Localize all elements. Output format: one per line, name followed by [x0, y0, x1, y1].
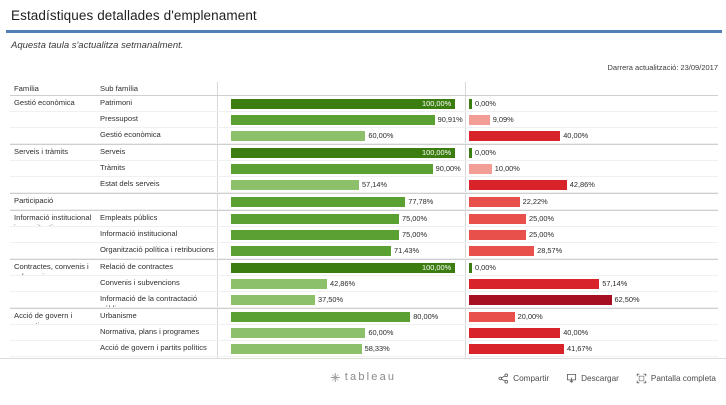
bar-cell-emplenats[interactable]: 90,91% [217, 112, 465, 128]
bar-emplenats[interactable] [231, 328, 365, 338]
column-header-familia[interactable]: Família [10, 82, 95, 95]
bar-emplenats[interactable] [231, 230, 399, 240]
bar-cell-no-emplenats[interactable]: 40,00% [465, 128, 718, 144]
bar-label-emplenats: 42,86% [330, 279, 355, 289]
bar-cell-emplenats[interactable]: 37,50% [217, 292, 465, 308]
table-group: Participació77,78%22,22% [10, 193, 718, 210]
bar-cell-no-emplenats[interactable]: 0,00% [465, 96, 718, 112]
bar-label-no-emplenats: 28,57% [537, 246, 562, 256]
table-body: Gestió econòmicaPatrimoni100,00%0,00%Pre… [10, 96, 718, 373]
table-row[interactable]: Estat dels serveis57,14%42,86% [10, 177, 718, 193]
cell-familia [10, 112, 95, 128]
table-group: Contractes, convenis i subvencionsRelaci… [10, 259, 718, 308]
table-row[interactable]: Participació77,78%22,22% [10, 194, 718, 210]
cell-familia: Gestió econòmica [10, 96, 95, 112]
bar-label-no-emplenats: 40,00% [563, 131, 588, 141]
cell-familia [10, 243, 95, 259]
cell-subfamilia: Informació institucional [95, 227, 217, 243]
bar-no-emplenats[interactable] [469, 180, 567, 190]
cell-subfamilia: Acció de govern i partits polítics [95, 341, 217, 357]
tableau-viz: Estadístiques detallades d'emplenament A… [0, 0, 726, 405]
cell-familia: Serveis i tràmits [10, 145, 95, 161]
bar-label-no-emplenats: 25,00% [529, 230, 554, 240]
bar-no-emplenats[interactable] [469, 164, 492, 174]
cell-subfamilia: Convenis i subvencions [95, 276, 217, 292]
bar-label-emplenats: 58,33% [365, 344, 390, 354]
bar-cell-no-emplenats[interactable]: 25,00% [465, 227, 718, 243]
table-header-row: Família Sub família [10, 82, 718, 96]
page-title: Estadístiques detallades d'emplenament [11, 8, 257, 23]
bar-label-no-emplenats: 20,00% [518, 312, 543, 322]
bar-emplenats[interactable] [231, 115, 435, 125]
bar-emplenats[interactable] [231, 131, 365, 141]
cell-familia [10, 177, 95, 193]
bar-cell-emplenats[interactable]: 60,00% [217, 325, 465, 341]
table-row[interactable]: Informació de la contractació pública37,… [10, 292, 718, 308]
cell-subfamilia: Gestió econòmica [95, 128, 217, 144]
bar-cell-no-emplenats[interactable]: 0,00% [465, 260, 718, 276]
bar-label-no-emplenats: 9,09% [493, 115, 514, 125]
cell-subfamilia: Pressupost [95, 112, 217, 128]
bar-label-emplenats: 37,50% [318, 295, 343, 305]
cell-familia [10, 227, 95, 243]
viz-header: Estadístiques detallades d'emplenament [0, 0, 726, 34]
cell-subfamilia: Tràmits [95, 161, 217, 177]
cell-familia [10, 161, 95, 177]
bar-label-emplenats: 100,00% [422, 148, 451, 158]
tableau-mark-icon [330, 372, 341, 383]
cell-familia [10, 325, 95, 341]
download-label: Descargar [581, 374, 619, 383]
cell-familia: Acció de govern i normativa [10, 309, 95, 325]
bar-cell-emplenats[interactable]: 80,00% [217, 309, 465, 325]
bar-label-emplenats: 75,00% [402, 230, 427, 240]
bar-cell-emplenats[interactable]: 100,00% [217, 145, 465, 161]
bar-no-emplenats[interactable] [469, 214, 526, 224]
table-row[interactable]: Tràmits90,00%10,00% [10, 161, 718, 177]
fullscreen-icon [636, 373, 647, 384]
table-row[interactable]: Organització política i retribucions71,4… [10, 243, 718, 259]
column-header-subfamilia[interactable]: Sub família [95, 82, 217, 95]
bar-no-emplenats[interactable] [469, 328, 560, 338]
bar-label-emplenats: 100,00% [422, 99, 451, 109]
bar-emplenats[interactable] [231, 214, 399, 224]
table-row[interactable]: Gestió econòmicaPatrimoni100,00%0,00% [10, 96, 718, 112]
bar-cell-no-emplenats[interactable]: 42,86% [465, 177, 718, 193]
cell-subfamilia: Urbanisme [95, 309, 217, 325]
cell-subfamilia: Serveis [95, 145, 217, 161]
bar-no-emplenats[interactable] [469, 295, 612, 305]
bar-cell-emplenats[interactable]: 100,00% [217, 96, 465, 112]
bar-label-no-emplenats: 41,67% [567, 344, 592, 354]
table-row[interactable]: Pressupost90,91%9,09% [10, 112, 718, 128]
cell-familia: Informació institucional i organitzativa [10, 211, 95, 227]
table-row[interactable]: Acció de govern i partits polítics58,33%… [10, 341, 718, 357]
bar-emplenats[interactable] [231, 295, 315, 305]
bar-emplenats[interactable] [231, 312, 410, 322]
bar-cell-no-emplenats[interactable]: 0,00% [465, 145, 718, 161]
table-group: Gestió econòmicaPatrimoni100,00%0,00%Pre… [10, 96, 718, 144]
bar-emplenats[interactable] [231, 180, 359, 190]
bar-cell-no-emplenats[interactable]: 20,00% [465, 309, 718, 325]
cell-familia [10, 292, 95, 308]
bar-label-no-emplenats: 62,50% [615, 295, 640, 305]
bar-cell-no-emplenats[interactable]: 9,09% [465, 112, 718, 128]
bar-label-emplenats: 90,00% [436, 164, 461, 174]
tableau-logo-text: tableau [345, 371, 397, 383]
bar-label-emplenats: 77,78% [408, 197, 433, 207]
header-accent-rule [6, 30, 722, 33]
bar-no-emplenats[interactable] [469, 99, 472, 109]
bar-label-no-emplenats: 0,00% [475, 263, 496, 273]
bar-no-emplenats[interactable] [469, 230, 526, 240]
bar-cell-emplenats[interactable]: 100,00% [217, 260, 465, 276]
bar-label-emplenats: 80,00% [413, 312, 438, 322]
table-row[interactable]: Serveis i tràmitsServeis100,00%0,00% [10, 145, 718, 161]
bar-cell-emplenats[interactable]: 57,14% [217, 177, 465, 193]
download-button[interactable]: Descargar [566, 373, 619, 384]
stats-table: Família Sub família Gestió econòmicaPatr… [10, 82, 718, 405]
download-icon [566, 373, 577, 384]
viz-footer: tableau Compartir [0, 359, 726, 405]
bar-label-no-emplenats: 0,00% [475, 148, 496, 158]
table-row[interactable]: Convenis i subvencions42,86%57,14% [10, 276, 718, 292]
bar-label-no-emplenats: 22,22% [523, 197, 548, 207]
table-row[interactable]: Acció de govern i normativaUrbanisme80,0… [10, 309, 718, 325]
bar-cell-no-emplenats[interactable]: 22,22% [465, 194, 718, 210]
cell-subfamilia: Estat dels serveis [95, 177, 217, 193]
bar-label-no-emplenats: 57,14% [602, 279, 627, 289]
bar-cell-no-emplenats[interactable]: 62,50% [465, 292, 718, 308]
bar-emplenats[interactable] [231, 197, 405, 207]
bar-label-no-emplenats: 0,00% [475, 99, 496, 109]
bar-cell-emplenats[interactable]: 71,43% [217, 243, 465, 259]
bar-label-emplenats: 60,00% [368, 131, 393, 141]
bar-emplenats[interactable] [231, 246, 391, 256]
cell-subfamilia [95, 194, 217, 210]
bar-emplenats[interactable] [231, 279, 327, 289]
cell-familia [10, 341, 95, 357]
cell-subfamilia: Relació de contractes [95, 260, 217, 276]
bar-emplenats[interactable] [231, 344, 362, 354]
cell-familia: Participació [10, 194, 95, 210]
bar-cell-emplenats[interactable]: 42,86% [217, 276, 465, 292]
bar-cell-emplenats[interactable]: 58,33% [217, 341, 465, 357]
bar-no-emplenats[interactable] [469, 279, 599, 289]
table-row[interactable]: Normativa, plans i programes60,00%40,00% [10, 325, 718, 341]
bar-label-emplenats: 57,14% [362, 180, 387, 190]
table-row[interactable]: Informació institucional75,00%25,00% [10, 227, 718, 243]
bar-cell-no-emplenats[interactable]: 41,67% [465, 341, 718, 357]
bar-label-emplenats: 71,43% [394, 246, 419, 256]
bar-cell-no-emplenats[interactable]: 10,00% [465, 161, 718, 177]
cell-subfamilia: Empleats públics [95, 211, 217, 227]
bar-no-emplenats[interactable] [469, 344, 564, 354]
bar-no-emplenats[interactable] [469, 312, 515, 322]
table-row[interactable]: Contractes, convenis i subvencionsRelaci… [10, 260, 718, 276]
bar-label-emplenats: 60,00% [368, 328, 393, 338]
fullscreen-label: Pantalla completa [651, 374, 716, 383]
bar-cell-emplenats[interactable]: 75,00% [217, 227, 465, 243]
bar-label-no-emplenats: 25,00% [529, 214, 554, 224]
cell-subfamilia: Organització política i retribucions [95, 243, 217, 259]
bar-cell-emplenats[interactable]: 60,00% [217, 128, 465, 144]
bar-no-emplenats[interactable] [469, 197, 520, 207]
header-right-pane [465, 82, 718, 95]
fullscreen-button[interactable]: Pantalla completa [636, 373, 716, 384]
cell-familia: Contractes, convenis i subvencions [10, 260, 95, 276]
share-button[interactable]: Compartir [498, 373, 549, 384]
bar-label-no-emplenats: 42,86% [570, 180, 595, 190]
table-row[interactable]: Gestió econòmica60,00%40,00% [10, 128, 718, 144]
bar-cell-no-emplenats[interactable]: 57,14% [465, 276, 718, 292]
bar-no-emplenats[interactable] [469, 246, 534, 256]
bar-cell-emplenats[interactable]: 90,00% [217, 161, 465, 177]
bar-cell-no-emplenats[interactable]: 40,00% [465, 325, 718, 341]
bar-label-emplenats: 75,00% [402, 214, 427, 224]
bar-emplenats[interactable] [231, 164, 433, 174]
update-note: Aquesta taula s'actualitza setmanalment. [11, 40, 183, 51]
share-label: Compartir [513, 374, 549, 383]
table-group: Informació institucional i organitzativa… [10, 210, 718, 259]
bar-no-emplenats[interactable] [469, 115, 490, 125]
cell-subfamilia: Patrimoni [95, 96, 217, 112]
bar-label-no-emplenats: 40,00% [563, 328, 588, 338]
bar-cell-emplenats[interactable]: 77,78% [217, 194, 465, 210]
bar-label-emplenats: 100,00% [422, 263, 451, 273]
bar-no-emplenats[interactable] [469, 131, 560, 141]
cell-familia [10, 128, 95, 144]
cell-subfamilia: Informació de la contractació pública [95, 292, 217, 308]
bar-no-emplenats[interactable] [469, 148, 472, 158]
table-group: Serveis i tràmitsServeis100,00%0,00%Tràm… [10, 144, 718, 193]
cell-subfamilia: Normativa, plans i programes [95, 325, 217, 341]
bar-cell-no-emplenats[interactable]: 28,57% [465, 243, 718, 259]
cell-familia [10, 276, 95, 292]
bar-cell-emplenats[interactable]: 75,00% [217, 211, 465, 227]
bar-label-no-emplenats: 10,00% [495, 164, 520, 174]
share-icon [498, 373, 509, 384]
tableau-logo[interactable]: tableau [330, 371, 397, 383]
bar-cell-no-emplenats[interactable]: 25,00% [465, 211, 718, 227]
bar-no-emplenats[interactable] [469, 263, 472, 273]
bar-label-emplenats: 90,91% [438, 115, 463, 125]
footer-actions: Compartir Descargar [498, 373, 716, 384]
last-updated-label: Darrera actualització: 23/09/2017 [608, 63, 718, 72]
header-left-pane [217, 82, 465, 95]
table-row[interactable]: Informació institucional i organitzativa… [10, 211, 718, 227]
